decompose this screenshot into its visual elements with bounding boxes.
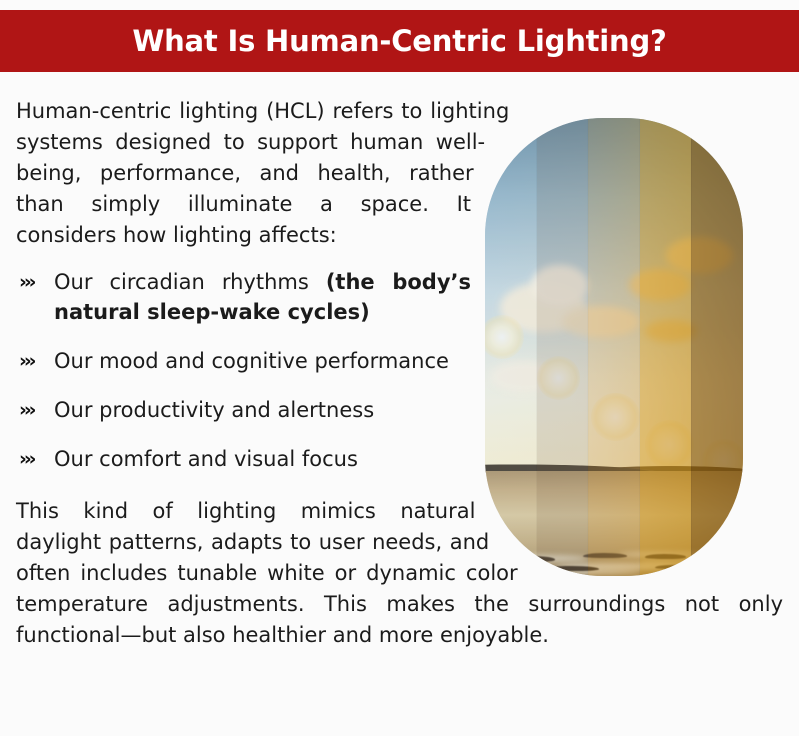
header-banner: What Is Human-Centric Lighting? [0, 10, 799, 72]
page-title: What Is Human-Centric Lighting? [132, 24, 666, 58]
list-item-label: Our circadian rhythms [54, 270, 326, 294]
infographic-card: What Is Human-Centric Lighting? [0, 0, 799, 736]
list-item: ››› Our comfort and visual focus [16, 444, 783, 474]
list-item: ››› Our mood and cognitive performance [16, 346, 783, 376]
list-item-label: Our productivity and alertness [54, 398, 374, 422]
chevron-right-icon: ››› [19, 346, 34, 376]
chevron-right-icon: ››› [19, 395, 34, 425]
content-area: Human-centric lighting (HCL) refers to l… [0, 72, 799, 736]
list-item: ››› Our circadian rhythms (the body’s na… [16, 267, 783, 327]
list-item-label: Our comfort and visual focus [54, 447, 358, 471]
chevron-right-icon: ››› [19, 444, 34, 474]
list-item-label: Our mood and cognitive performance [54, 349, 449, 373]
list-item: ››› Our productivity and alertness [16, 395, 783, 425]
chevron-right-icon: ››› [19, 267, 34, 297]
